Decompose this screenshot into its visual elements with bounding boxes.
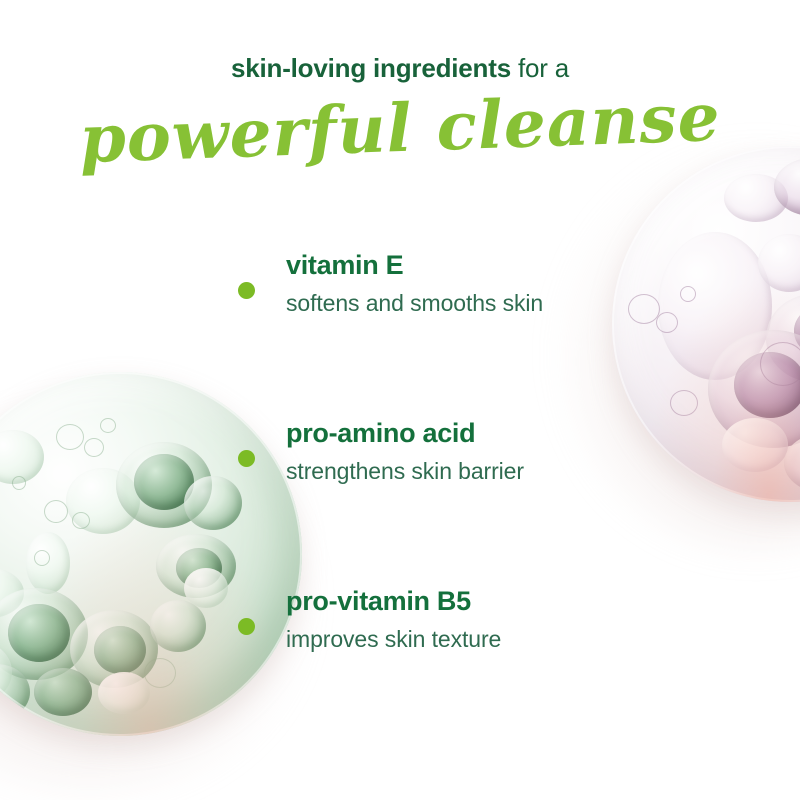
bubble: [100, 418, 116, 433]
ingredient-description: softens and smooths skin: [286, 288, 658, 318]
bullet-dot-icon: [238, 450, 255, 467]
bubble: [84, 438, 104, 457]
ingredient-description: strengthens skin barrier: [286, 456, 658, 486]
bubble: [184, 476, 242, 530]
bubble: [722, 418, 788, 472]
bubble: [44, 500, 68, 523]
ingredient-text-group: vitamin E softens and smooths skin: [286, 248, 658, 318]
ingredient-name: pro-amino acid: [286, 416, 658, 450]
headline-script: powerful cleanse: [0, 74, 800, 182]
ingredient-name: vitamin E: [286, 248, 658, 282]
bubble: [144, 658, 176, 688]
list-item: pro-amino acid strengthens skin barrier: [238, 416, 658, 584]
promo-canvas: skin-loving ingredients for a powerful c…: [0, 0, 800, 800]
bubble: [760, 342, 800, 386]
bullet-dot-icon: [238, 282, 255, 299]
headline-tail: for a: [511, 53, 569, 83]
ingredient-name: pro-vitamin B5: [286, 584, 658, 618]
list-item: vitamin E softens and smooths skin: [238, 248, 658, 416]
headline-block: skin-loving ingredients for a powerful c…: [0, 52, 800, 168]
bullet-dot-icon: [238, 618, 255, 635]
ingredient-description: improves skin texture: [286, 624, 658, 654]
ingredient-text-group: pro-amino acid strengthens skin barrier: [286, 416, 658, 486]
bubble: [12, 476, 26, 490]
bubble: [98, 672, 150, 714]
bubble: [8, 604, 70, 662]
bubble: [72, 512, 90, 529]
headline-emphasis: skin-loving ingredients: [231, 53, 511, 83]
bubble: [670, 390, 698, 416]
list-item: pro-vitamin B5 improves skin texture: [238, 584, 658, 752]
bubble: [34, 668, 92, 716]
bubble: [656, 312, 678, 333]
bubble: [150, 600, 206, 652]
bubble: [56, 424, 84, 450]
bubble: [680, 286, 696, 302]
bubble: [34, 550, 50, 566]
ingredient-text-group: pro-vitamin B5 improves skin texture: [286, 584, 658, 654]
bubble: [184, 568, 228, 608]
bubble: [94, 626, 146, 674]
ingredient-list: vitamin E softens and smooths skin pro-a…: [238, 248, 658, 752]
